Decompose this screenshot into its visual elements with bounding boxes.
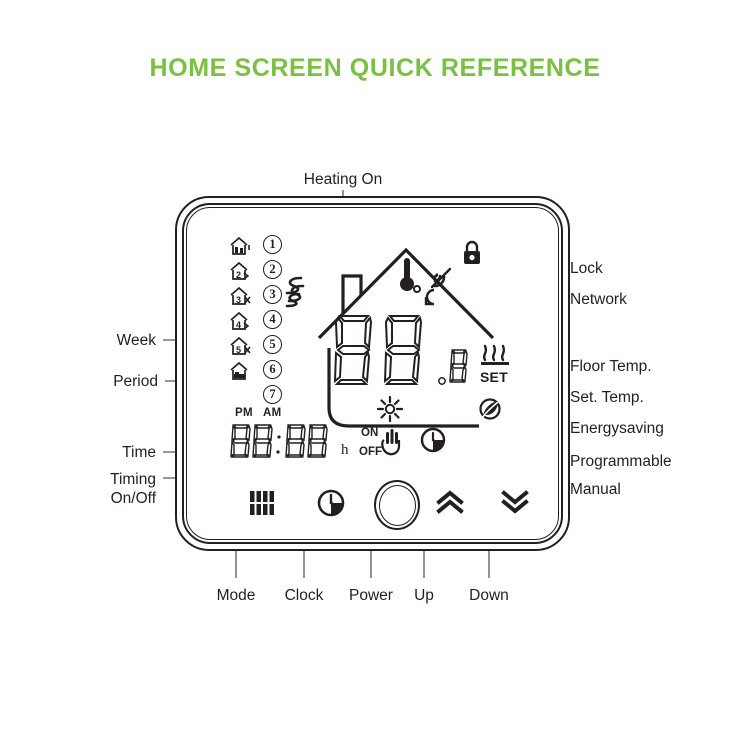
callout-week: Week <box>0 331 156 350</box>
callout-energysaving: Energysaving <box>570 419 664 438</box>
period-icon-6-sleep <box>229 361 252 382</box>
snowflake-icon <box>377 396 403 422</box>
svg-text:2: 2 <box>236 270 241 280</box>
celsius-unit-icon <box>412 284 442 312</box>
time-digits <box>229 422 337 462</box>
lcd-screen: 2 3 4 5 <box>201 224 544 474</box>
floor-heat-icon <box>479 342 511 370</box>
callout-network: Network <box>570 290 627 309</box>
thermostat-device: 2 3 4 5 <box>175 196 570 551</box>
grid-squares-icon[interactable] <box>249 490 275 516</box>
clock-button-icon[interactable] <box>316 488 346 518</box>
button-row <box>201 482 544 530</box>
callout-programmable: Programmable <box>570 452 672 471</box>
period-icon-3: 3 <box>229 286 252 307</box>
period-icon-5: 5 <box>229 336 252 357</box>
callout-time: Time <box>0 443 156 462</box>
day-number-6: 6 <box>263 360 282 379</box>
timing-on-label: ON <box>361 427 378 439</box>
period-icon-1 <box>229 236 252 257</box>
svg-text:3: 3 <box>236 295 241 305</box>
day-number-2: 2 <box>263 260 282 279</box>
eco-leaf-icon <box>477 396 503 422</box>
power-ring-icon[interactable] <box>374 480 420 530</box>
svg-text:5: 5 <box>236 345 241 355</box>
callout-timing-onoff: Timing On/Off <box>0 470 156 509</box>
timing-off-label: OFF <box>359 446 382 458</box>
callout-lock: Lock <box>570 259 603 278</box>
am-label: AM <box>263 407 282 419</box>
page-title: HOME SCREEN QUICK REFERENCE <box>0 54 750 83</box>
chevron-down-icon[interactable] <box>500 490 530 514</box>
callout-period: Period <box>0 372 158 391</box>
pm-label: PM <box>235 407 253 419</box>
day-number-1: 1 <box>263 235 282 254</box>
period-icon-4: 4 <box>229 311 252 332</box>
decimal-digit <box>449 348 469 386</box>
callout-manual: Manual <box>570 480 621 499</box>
hand-icon <box>379 428 405 456</box>
callout-set-temp: Set. Temp. <box>570 388 644 407</box>
callout-floor-temp: Floor Temp. <box>570 357 652 376</box>
callout-heating-on: Heating On <box>263 170 423 189</box>
period-icon-2: 2 <box>229 261 252 282</box>
clock-icon <box>419 426 447 454</box>
svg-text:4: 4 <box>236 320 241 330</box>
callout-down: Down <box>439 586 539 605</box>
set-label: SET <box>480 369 508 385</box>
chevron-up-icon[interactable] <box>435 490 465 514</box>
day-number-3: 3 <box>263 285 282 304</box>
main-temperature-digits <box>333 312 433 390</box>
decimal-point <box>437 376 447 386</box>
hour-unit-label: h <box>341 442 349 459</box>
day-number-7: 7 <box>263 385 282 404</box>
day-number-4: 4 <box>263 310 282 329</box>
lock-icon <box>461 240 483 266</box>
day-number-5: 5 <box>263 335 282 354</box>
